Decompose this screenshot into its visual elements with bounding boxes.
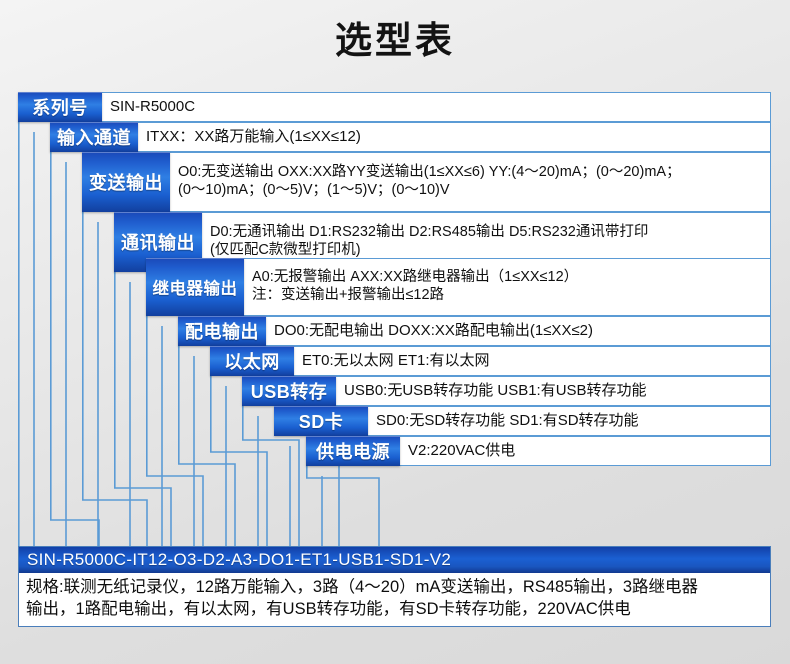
summary-model-code: SIN-R5000C-IT12-O3-D2-A3-DO1-ET1-USB1-SD… bbox=[19, 547, 770, 573]
row-label-power-supply[interactable]: 供电电源 bbox=[306, 436, 400, 466]
row-value-ethernet: ET0:无以太网 ET1:有以太网 bbox=[294, 346, 771, 376]
row-value-series-number: SIN-R5000C bbox=[102, 92, 771, 122]
value-line: 注：变送输出+报警输出≤12路 bbox=[252, 287, 770, 305]
value-line: V2:220VAC供电 bbox=[408, 442, 770, 460]
value-line: D0:无通讯输出 D1:RS232输出 D2:RS485输出 D5:RS232通… bbox=[210, 224, 770, 242]
row-value-transmitter-output: O0:无变送输出 OXX:XX路YY变送输出(1≤XX≤6) YY:(4～20)… bbox=[170, 152, 771, 212]
value-line: DO0:无配电输出 DOXX:XX路配电输出(1≤XX≤2) bbox=[274, 322, 770, 340]
row-value-power-supply: V2:220VAC供电 bbox=[400, 436, 771, 466]
page-title: 选型表 bbox=[0, 18, 790, 64]
row-label-transmitter-output[interactable]: 变送输出 bbox=[82, 152, 170, 212]
row-transmitter-output: 变送输出 O0:无变送输出 OXX:XX路YY变送输出(1≤XX≤6) YY:(… bbox=[82, 152, 771, 212]
row-label-input-channel[interactable]: 输入通道 bbox=[50, 122, 138, 152]
row-label-sd-card[interactable]: SD卡 bbox=[274, 406, 368, 436]
row-label-series-number[interactable]: 系列号 bbox=[18, 92, 102, 122]
row-label-usb-transfer[interactable]: USB转存 bbox=[242, 376, 336, 406]
value-line: A0:无报警输出 AXX:XX路继电器输出（1≤XX≤12） bbox=[252, 269, 770, 287]
row-label-relay-output[interactable]: 继电器输出 bbox=[146, 258, 244, 316]
row-value-input-channel: ITXX：XX路万能输入(1≤XX≤12) bbox=[138, 122, 771, 152]
value-line: SD0:无SD转存功能 SD1:有SD转存功能 bbox=[376, 412, 770, 430]
row-usb-transfer: USB转存 USB0:无USB转存功能 USB1:有USB转存功能 bbox=[242, 376, 771, 406]
value-line: (0～10)mA；(0～5)V；(1～5)V；(0～10)V bbox=[178, 182, 770, 200]
row-power-distribution-output: 配电输出 DO0:无配电输出 DOXX:XX路配电输出(1≤XX≤2) bbox=[178, 316, 771, 346]
row-label-power-distribution-output[interactable]: 配电输出 bbox=[178, 316, 266, 346]
summary-block: SIN-R5000C-IT12-O3-D2-A3-DO1-ET1-USB1-SD… bbox=[18, 546, 771, 627]
summary-description: 规格:联测无纸记录仪，12路万能输入，3路（4～20）mA变送输出，RS485输… bbox=[19, 573, 770, 626]
value-line: ET0:无以太网 ET1:有以太网 bbox=[302, 352, 770, 370]
row-label-ethernet[interactable]: 以太网 bbox=[210, 346, 294, 376]
selection-table-page: 选型表 系列号 bbox=[0, 0, 790, 664]
row-value-sd-card: SD0:无SD转存功能 SD1:有SD转存功能 bbox=[368, 406, 771, 436]
summary-description-line: 输出，1路配电输出，有以太网，有USB转存功能，有SD卡转存功能，220VAC供… bbox=[26, 599, 764, 621]
summary-description-line: 规格:联测无纸记录仪，12路万能输入，3路（4～20）mA变送输出，RS485输… bbox=[26, 577, 764, 599]
row-value-relay-output: A0:无报警输出 AXX:XX路继电器输出（1≤XX≤12） 注：变送输出+报警… bbox=[244, 258, 771, 316]
row-input-channel: 输入通道 ITXX：XX路万能输入(1≤XX≤12) bbox=[50, 122, 771, 152]
row-ethernet: 以太网 ET0:无以太网 ET1:有以太网 bbox=[210, 346, 771, 376]
row-value-power-distribution-output: DO0:无配电输出 DOXX:XX路配电输出(1≤XX≤2) bbox=[266, 316, 771, 346]
value-line: O0:无变送输出 OXX:XX路YY变送输出(1≤XX≤6) YY:(4～20)… bbox=[178, 164, 770, 182]
value-line: SIN-R5000C bbox=[110, 98, 770, 116]
row-power-supply: 供电电源 V2:220VAC供电 bbox=[306, 436, 771, 466]
value-line: ITXX：XX路万能输入(1≤XX≤12) bbox=[146, 128, 770, 146]
row-sd-card: SD卡 SD0:无SD转存功能 SD1:有SD转存功能 bbox=[274, 406, 771, 436]
row-relay-output: 继电器输出 A0:无报警输出 AXX:XX路继电器输出（1≤XX≤12） 注：变… bbox=[146, 258, 771, 316]
row-series-number: 系列号 SIN-R5000C bbox=[18, 92, 771, 122]
value-line: USB0:无USB转存功能 USB1:有USB转存功能 bbox=[344, 382, 770, 400]
row-value-usb-transfer: USB0:无USB转存功能 USB1:有USB转存功能 bbox=[336, 376, 771, 406]
